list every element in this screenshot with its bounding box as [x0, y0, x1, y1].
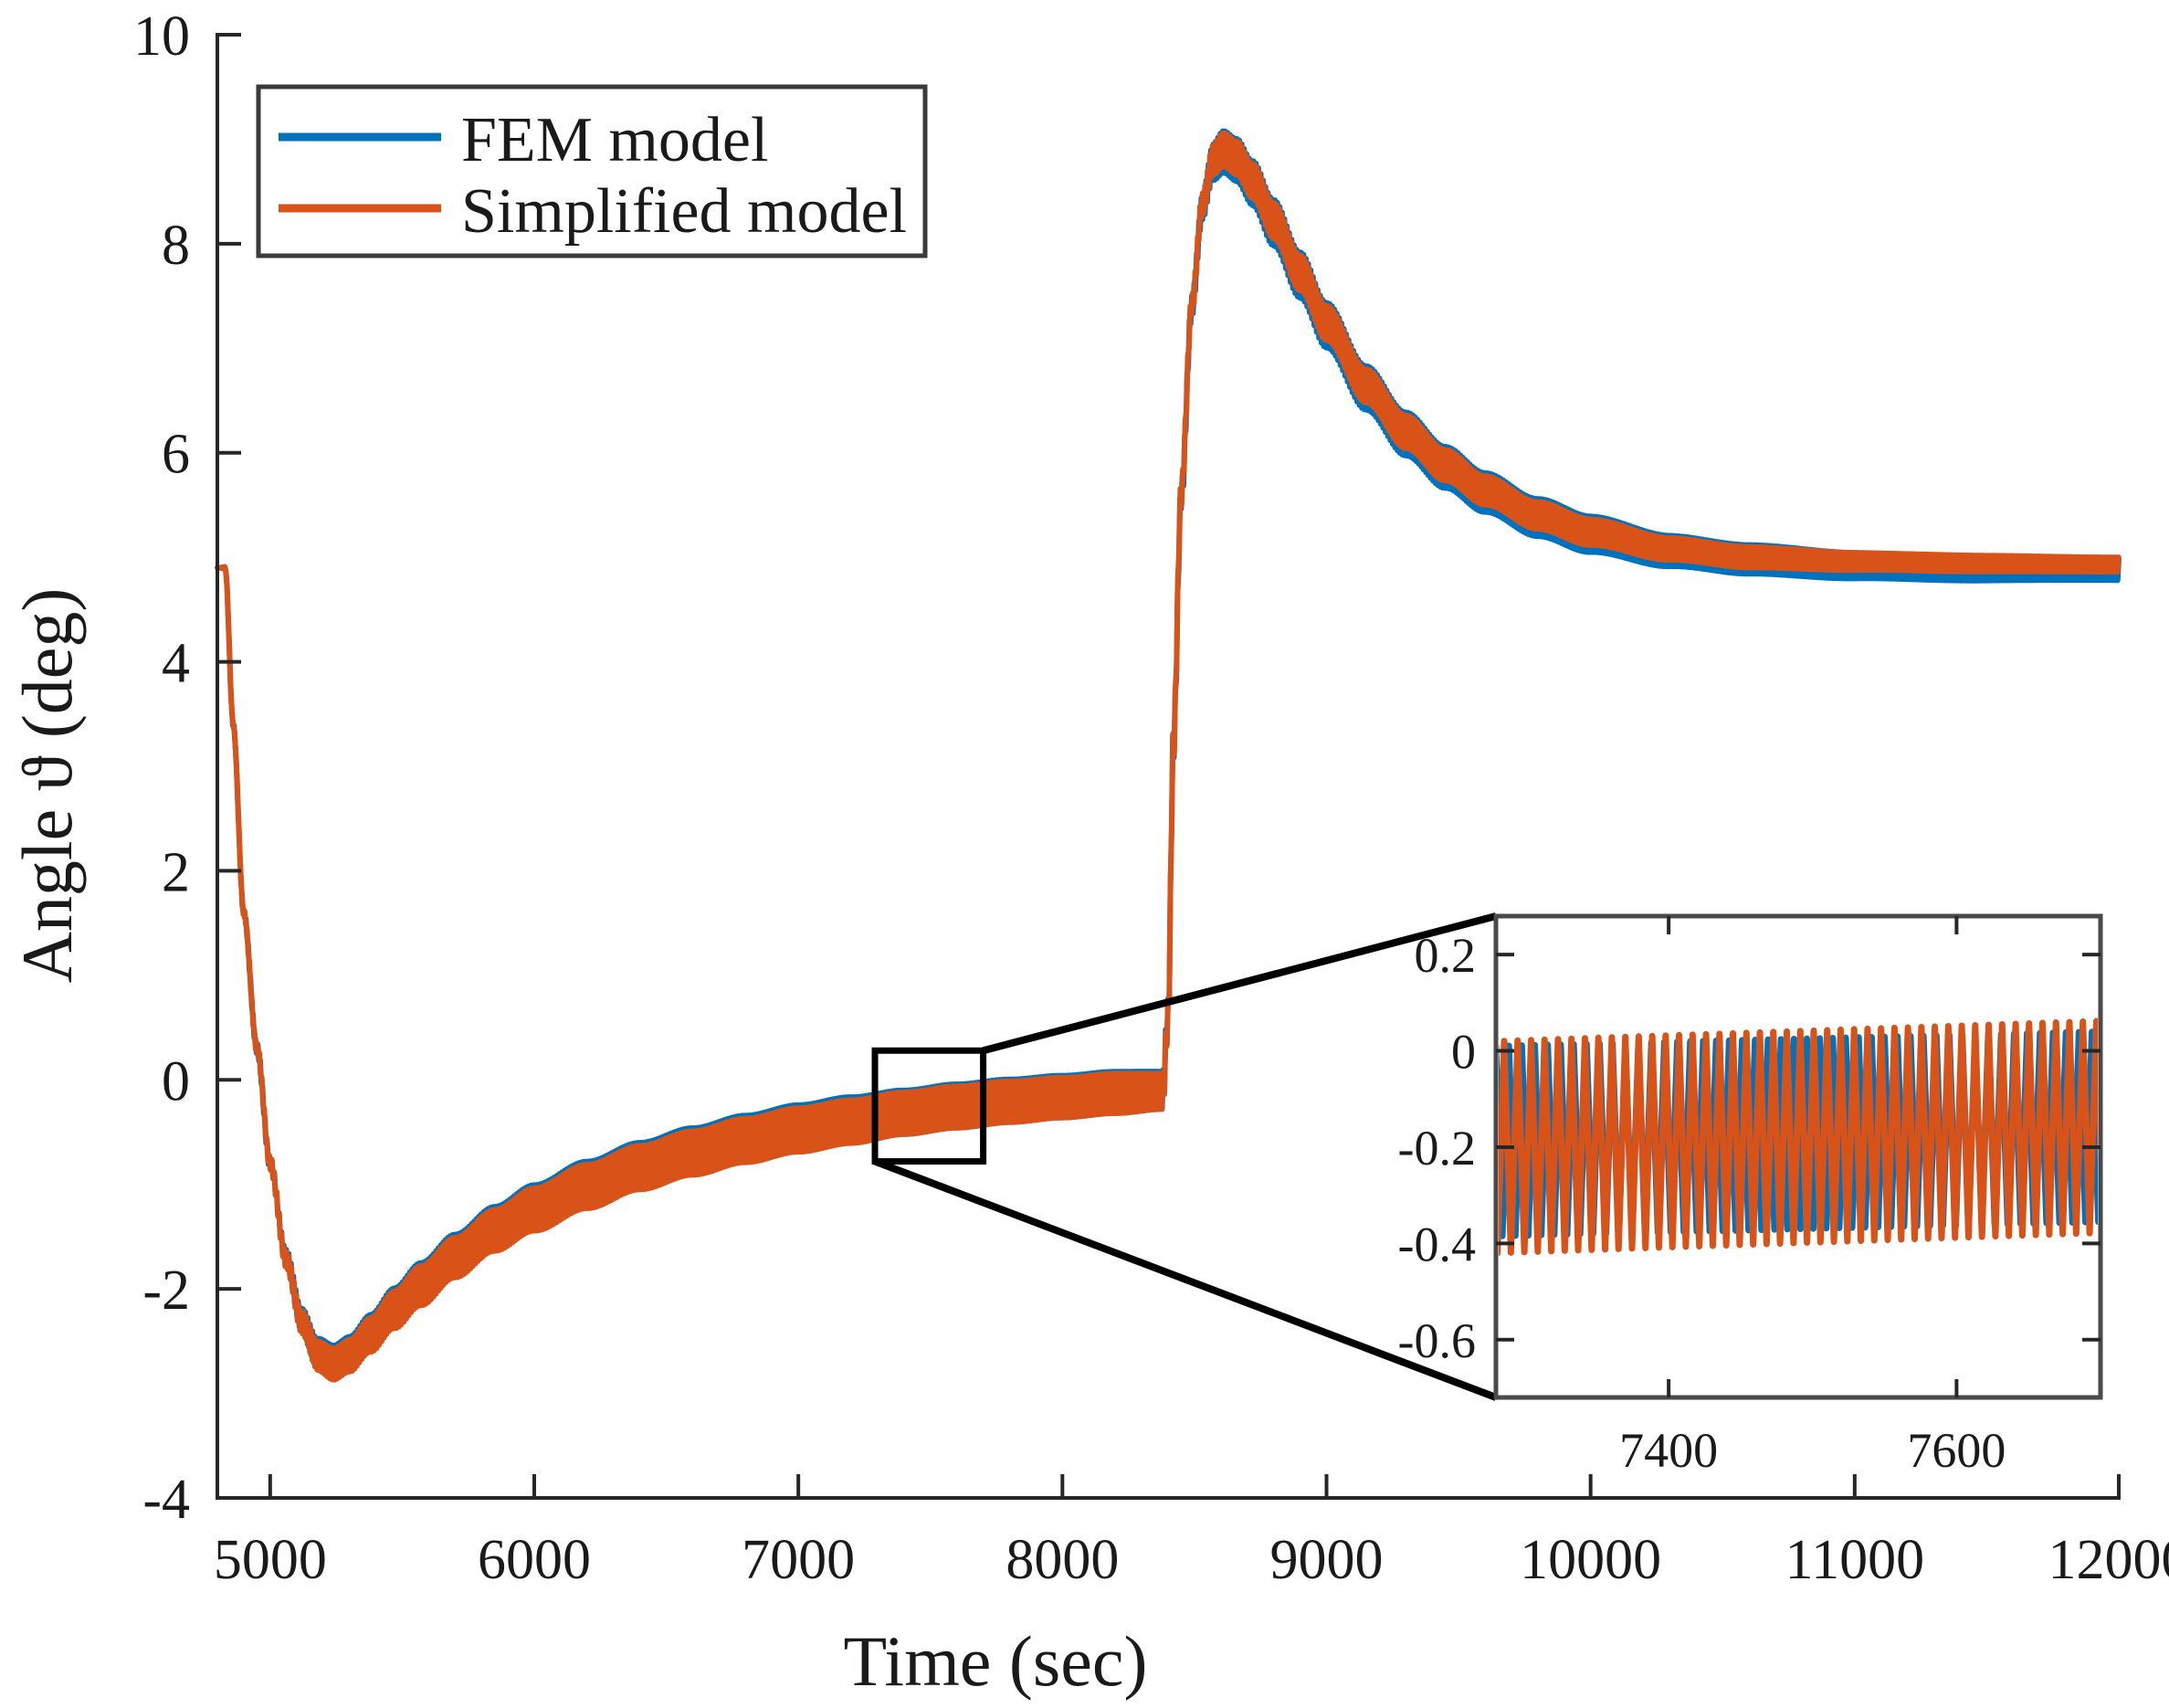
x-tick-label: 7000 [742, 1529, 855, 1591]
y-tick-label: 10 [133, 5, 190, 68]
x-tick-label: 12000 [2048, 1529, 2169, 1591]
x-tick-label: 8000 [1006, 1529, 1119, 1591]
y-axis-title: Angle ϑ (deg) [7, 588, 87, 984]
chart-legend: FEM modelSimplified model [258, 87, 925, 256]
x-tick-label: 5000 [214, 1529, 327, 1591]
x-tick-label: 9000 [1270, 1529, 1384, 1591]
x-tick-label: 10000 [1520, 1529, 1661, 1591]
y-tick-label: 4 [162, 633, 190, 695]
inset-y-tick-label: -0.2 [1398, 1121, 1476, 1176]
legend-label-simplified-model: Simplified model [461, 176, 907, 247]
x-tick-label: 6000 [478, 1529, 591, 1591]
y-tick-label: -2 [142, 1260, 190, 1322]
y-tick-label: 0 [162, 1050, 190, 1112]
y-tick-label: 2 [162, 841, 190, 903]
inset-x-tick-label: 7400 [1619, 1423, 1718, 1478]
legend-label-fem-model: FEM model [461, 105, 768, 175]
inset-y-tick-label: -0.6 [1398, 1313, 1476, 1368]
inset-y-tick-label: -0.4 [1398, 1217, 1476, 1271]
y-tick-label: -4 [142, 1469, 190, 1531]
inset-x-tick-label: 7600 [1907, 1423, 2006, 1478]
figure-container: -4-2024681050006000700080009000100001100… [0, 0, 2169, 1708]
inset-y-tick-label: 0.2 [1415, 928, 1477, 983]
angle-vs-time-chart: -4-2024681050006000700080009000100001100… [0, 0, 2169, 1708]
x-tick-label: 11000 [1785, 1529, 1924, 1591]
inset-plot: 0.20-0.2-0.4-0.674007600 [1398, 916, 2105, 1478]
x-axis-title: Time (sec) [844, 1621, 1148, 1701]
y-tick-label: 8 [162, 215, 190, 277]
y-tick-label: 6 [162, 424, 190, 486]
inset-y-tick-label: 0 [1451, 1025, 1476, 1080]
